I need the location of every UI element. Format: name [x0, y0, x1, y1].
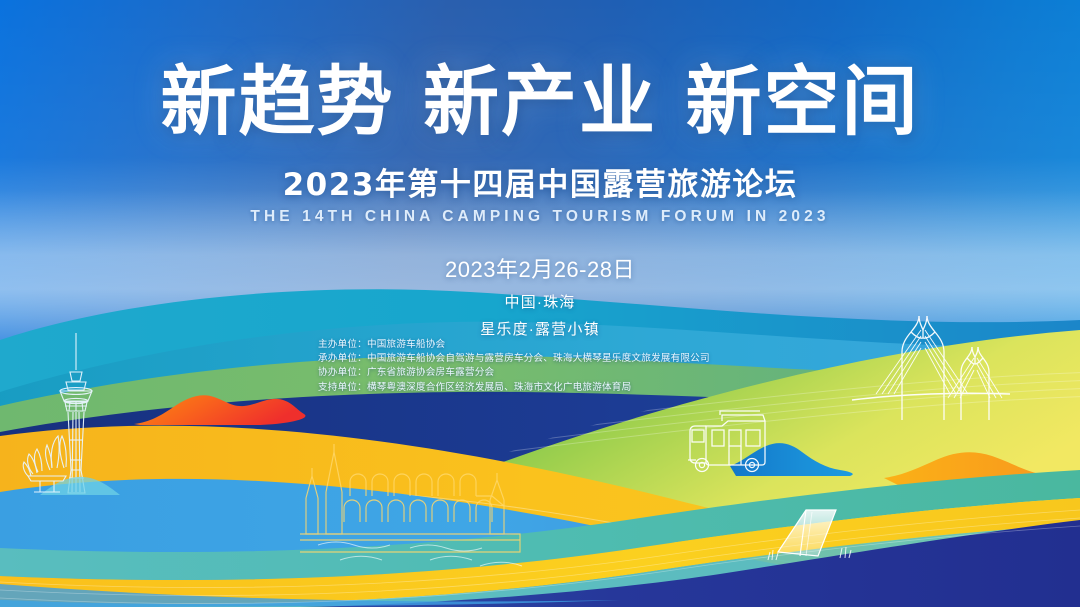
page-title: 新趋势 新产业 新空间	[0, 62, 1080, 141]
organizer-credits: 主办单位：中国旅游车船协会 承办单位：中国旅游车船协会自驾游与露营房车分会、珠海…	[318, 338, 710, 395]
subtitle-chinese: 2023年第十四届中国露营旅游论坛	[0, 159, 1080, 204]
poster-canvas: 新趋势 新产业 新空间 2023年第十四届中国露营旅游论坛 THE 14TH C…	[0, 0, 1080, 607]
subtitle-english: THE 14TH CHINA CAMPING TOURISM FORUM IN …	[0, 208, 1080, 226]
credit-line-coorganizer: 协办单位：广东省旅游协会房车露营分会	[318, 366, 710, 380]
poster-text-block: 新趋势 新产业 新空间 2023年第十四届中国露营旅游论坛 THE 14TH C…	[0, 0, 1080, 339]
credit-line-support: 支持单位：横琴粤澳深度合作区经济发展局、珠海市文化广电旅游体育局	[318, 381, 710, 395]
credit-line-organizer: 承办单位：中国旅游车船协会自驾游与露营房车分会、珠海大横琴星乐度文旅发展有限公司	[318, 352, 710, 366]
credit-line-host: 主办单位：中国旅游车船协会	[318, 338, 710, 352]
event-date: 2023年2月26-28日	[0, 252, 1080, 284]
event-location: 中国·珠海	[0, 291, 1080, 312]
event-venue: 星乐度·露营小镇	[0, 318, 1080, 339]
